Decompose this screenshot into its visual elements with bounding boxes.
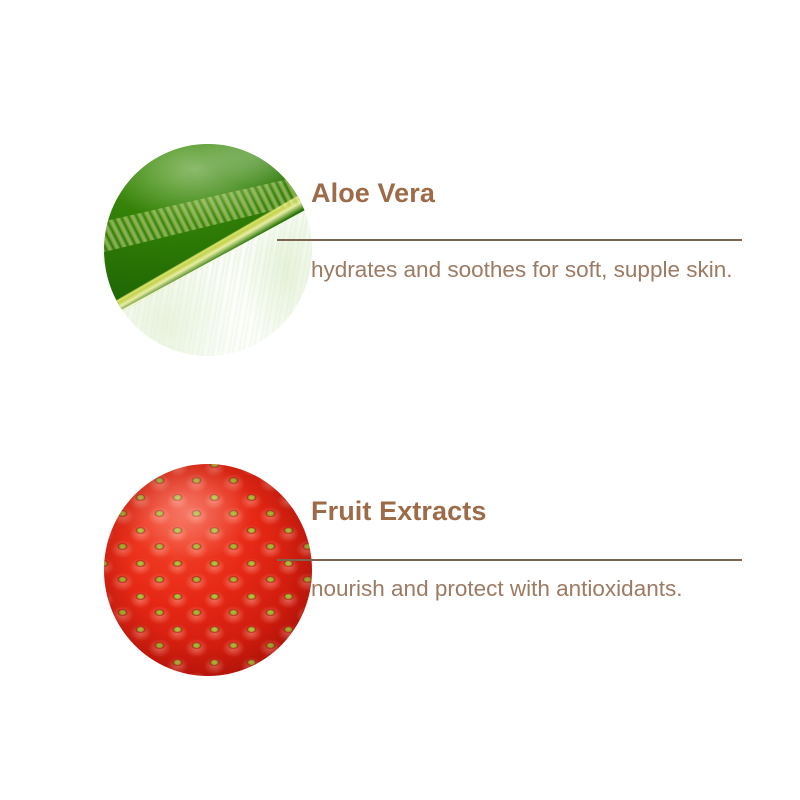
ingredient-description-fruit-extracts: nourish and protect with antioxidants. — [311, 573, 761, 604]
strawberry-photo — [104, 464, 312, 676]
aloe-vera-photo — [104, 144, 312, 356]
strawberry-shading-layer — [104, 464, 312, 676]
aloe-vera-image — [104, 144, 312, 356]
divider-aloe-vera — [277, 239, 742, 241]
ingredient-title-aloe-vera: Aloe Vera — [311, 180, 435, 207]
fruit-extracts-image — [104, 464, 312, 676]
ingredient-description-aloe-vera: hydrates and soothes for soft, supple sk… — [311, 254, 761, 285]
ingredient-highlights-page: { "page": { "background_color": "#ffffff… — [0, 0, 800, 800]
divider-fruit-extracts — [277, 559, 742, 561]
ingredient-title-fruit-extracts: Fruit Extracts — [311, 498, 486, 525]
